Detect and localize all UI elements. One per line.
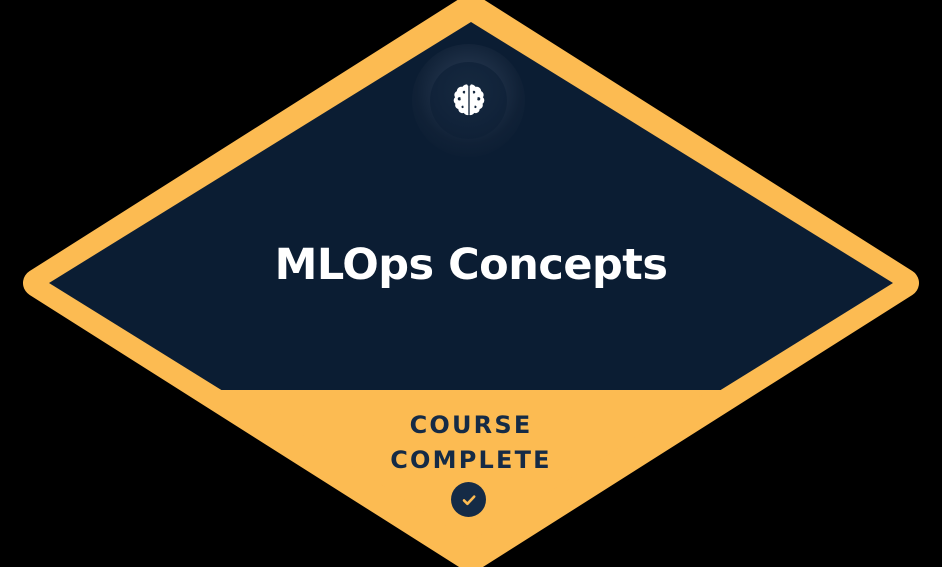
completion-check-badge [451,482,486,517]
badge-icon-disc [430,62,507,139]
course-completion-badge: MLOps Concepts COURSE COMPLETE [0,0,942,567]
brain-icon [448,80,490,122]
check-icon [459,490,479,510]
badge-icon-medallion [412,44,525,157]
